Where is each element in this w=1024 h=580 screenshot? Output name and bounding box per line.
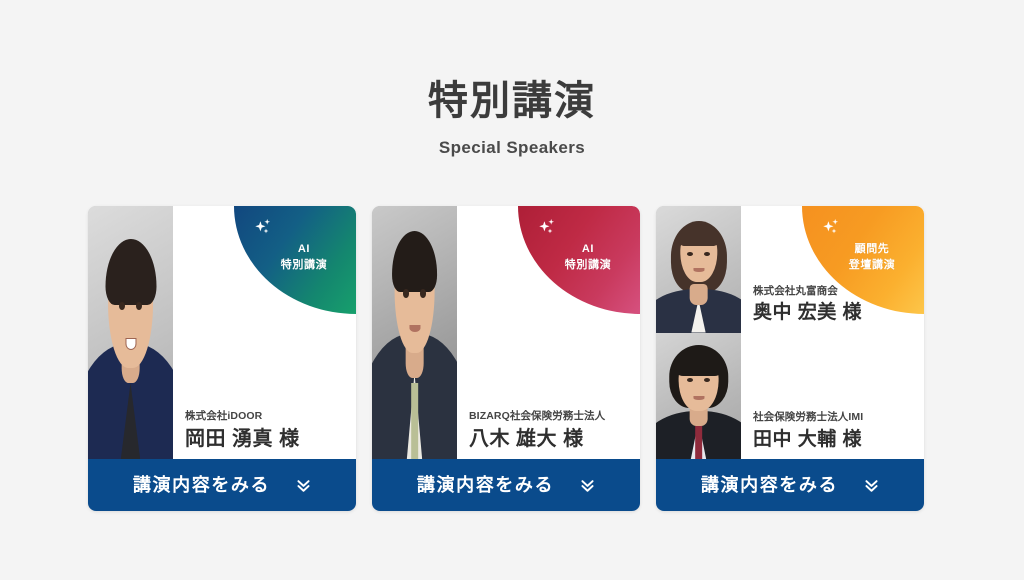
speaker-name: 岡田 湧真 様 [185, 427, 346, 451]
speaker-organization: 社会保険労務士法人IMI [753, 411, 914, 425]
speaker-photo-column [372, 206, 457, 459]
double-chevron-down-icon [864, 478, 879, 493]
speaker-entry: 社会保険労務士法人IMI 田中 大輔 様 [741, 333, 924, 460]
speaker-photo-column [656, 206, 741, 459]
portrait-yagi [372, 206, 457, 459]
page-title: 特別講演 [0, 78, 1024, 124]
portrait-okunaka [656, 206, 741, 333]
speaker-card[interactable]: BIZARQ社会保険労務士法人 八木 雄大 様 AI 特別講演 講演内容 [372, 206, 640, 511]
card-body: 株式会社丸富商会 奥中 宏美 様 社会保険労務士法人IMI 田中 大輔 様 [656, 206, 924, 459]
view-session-label: 講演内容をみる [417, 476, 554, 494]
double-chevron-down-icon [296, 478, 311, 493]
speaker-organization: 株式会社iDOOR [185, 410, 346, 424]
speaker-info-column: BIZARQ社会保険労務士法人 八木 雄大 様 [457, 206, 640, 459]
speaker-card[interactable]: 株式会社iDOOR 岡田 湧真 様 AI 特別講演 講演内容をみる [88, 206, 356, 511]
view-session-button[interactable]: 講演内容をみる [656, 459, 924, 511]
page-subtitle: Special Speakers [0, 138, 1024, 158]
double-chevron-down-icon [580, 478, 595, 493]
page-root: 特別講演 Special Speakers [0, 0, 1024, 580]
speaker-organization: BIZARQ社会保険労務士法人 [469, 410, 630, 424]
speaker-card[interactable]: 株式会社丸富商会 奥中 宏美 様 社会保険労務士法人IMI 田中 大輔 様 [656, 206, 924, 511]
view-session-button[interactable]: 講演内容をみる [372, 459, 640, 511]
speaker-info-column: 株式会社丸富商会 奥中 宏美 様 社会保険労務士法人IMI 田中 大輔 様 [741, 206, 924, 459]
speaker-name: 八木 雄大 様 [469, 427, 630, 451]
portrait-okada [88, 206, 173, 459]
card-body: 株式会社iDOOR 岡田 湧真 様 AI 特別講演 [88, 206, 356, 459]
view-session-label: 講演内容をみる [701, 476, 838, 494]
view-session-label: 講演内容をみる [133, 476, 270, 494]
speaker-organization: 株式会社丸富商会 [753, 285, 914, 299]
card-body: BIZARQ社会保険労務士法人 八木 雄大 様 AI 特別講演 [372, 206, 640, 459]
speaker-entry: 株式会社丸富商会 奥中 宏美 様 [741, 206, 924, 333]
view-session-button[interactable]: 講演内容をみる [88, 459, 356, 511]
speaker-card-list: 株式会社iDOOR 岡田 湧真 様 AI 特別講演 講演内容をみる [88, 206, 924, 511]
section-heading: 特別講演 Special Speakers [0, 0, 1024, 158]
speaker-info-column: 株式会社iDOOR 岡田 湧真 様 [173, 206, 356, 459]
speaker-name: 田中 大輔 様 [753, 428, 914, 451]
speaker-name: 奥中 宏美 様 [753, 301, 914, 324]
portrait-tanaka [656, 333, 741, 460]
speaker-photo-column [88, 206, 173, 459]
